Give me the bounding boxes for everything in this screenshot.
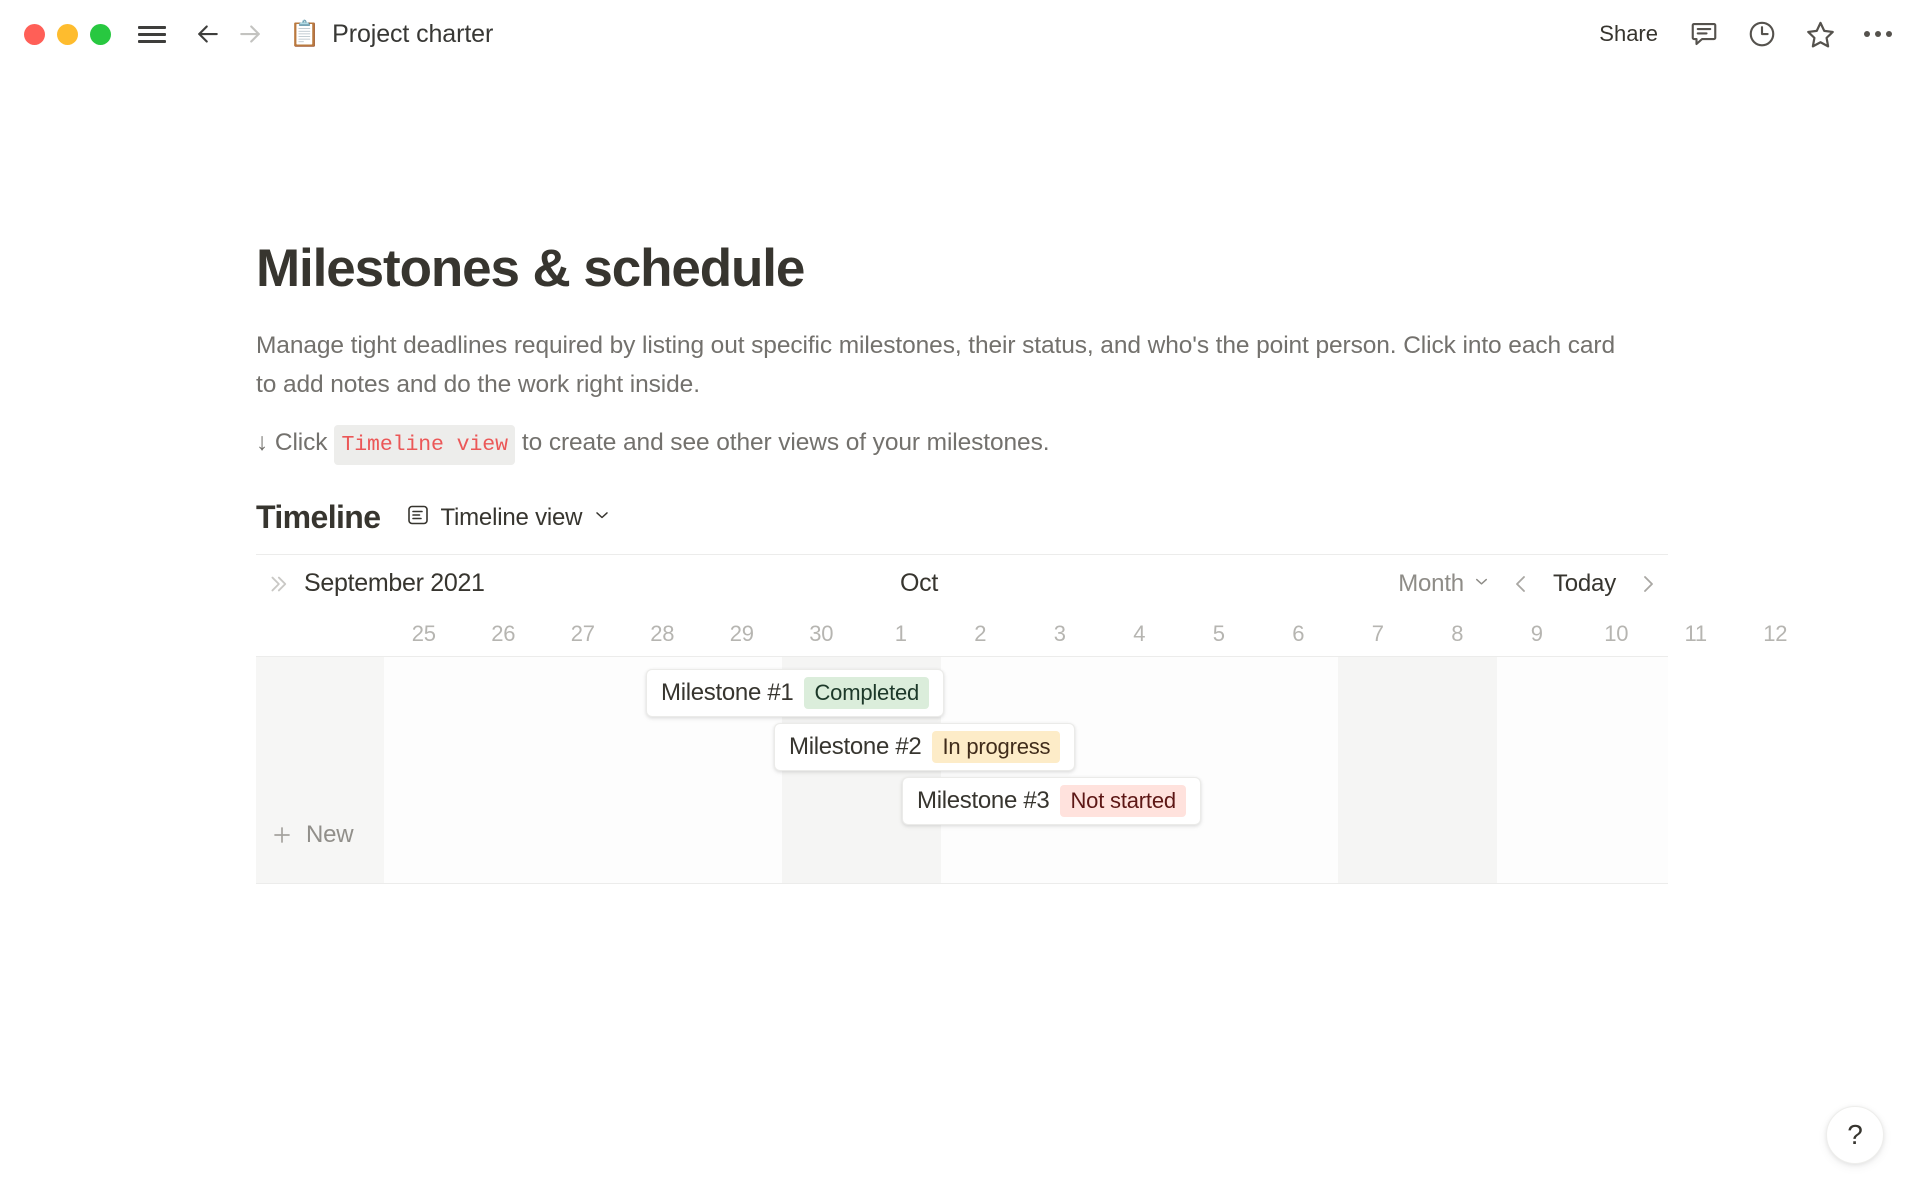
day-header-spacer — [256, 612, 384, 656]
day-header-cell: 27 — [543, 612, 623, 656]
day-header-cell: 30 — [782, 612, 862, 656]
day-header-cell: 10 — [1577, 612, 1657, 656]
history-clock-icon[interactable] — [1744, 16, 1780, 52]
milestone-title: Milestone #2 — [789, 733, 921, 761]
double-chevron-right-icon[interactable] — [266, 573, 288, 595]
app-window: 📋 Project charter Share — [0, 0, 1920, 1200]
status-badge: In progress — [932, 731, 1060, 763]
day-header-cell: 5 — [1179, 612, 1259, 656]
next-period-button[interactable] — [1636, 572, 1660, 596]
forward-arrow-icon[interactable] — [233, 17, 267, 51]
breadcrumb[interactable]: 📋 Project charter — [289, 20, 493, 49]
click-instruction-line: ↓ Click Timeline view to create and see … — [256, 423, 1668, 465]
hamburger-menu-icon[interactable] — [135, 17, 169, 51]
day-header-cell: 6 — [1259, 612, 1339, 656]
status-badge: Completed — [804, 677, 929, 709]
timeline-row-label-panel — [256, 657, 384, 883]
help-button[interactable]: ? — [1826, 1106, 1884, 1164]
milestone-card[interactable]: Milestone #2In progress — [774, 723, 1075, 771]
tab-timeline-view-label: Timeline view — [440, 504, 582, 532]
chevron-down-icon — [592, 505, 612, 530]
milestone-title: Milestone #1 — [661, 679, 793, 707]
timeline-view-icon — [406, 503, 430, 532]
timeline-block-title: Timeline — [256, 499, 380, 536]
close-window-button[interactable] — [24, 24, 45, 45]
timeline-scale-select[interactable]: Month — [1398, 570, 1491, 598]
milestone-title: Milestone #3 — [917, 787, 1049, 815]
day-header-cell: 9 — [1497, 612, 1577, 656]
timeline-database-block: Timeline Timeline view — [256, 499, 1668, 884]
chevron-down-icon — [1472, 570, 1491, 598]
tab-timeline-view[interactable]: Timeline view — [402, 501, 616, 534]
day-header-cell: 29 — [702, 612, 782, 656]
timeline-scale-label: Month — [1398, 570, 1464, 598]
star-icon[interactable] — [1802, 16, 1838, 52]
day-header-cell: 26 — [464, 612, 544, 656]
comment-icon[interactable] — [1686, 16, 1722, 52]
day-header-cell: 3 — [1020, 612, 1100, 656]
click-instruction-suffix: to create and see other views of your mi… — [522, 423, 1050, 462]
milestone-card[interactable]: Milestone #3Not started — [902, 777, 1201, 825]
share-button[interactable]: Share — [1593, 17, 1664, 51]
timeline-grid[interactable]: New Milestone #1CompletedMilestone #2In … — [256, 656, 1668, 884]
day-header-cell: 12 — [1736, 612, 1816, 656]
back-arrow-icon[interactable] — [191, 17, 225, 51]
day-header-cell: 11 — [1656, 612, 1736, 656]
plus-icon — [270, 823, 294, 847]
titlebar-actions: Share — [1593, 0, 1896, 68]
day-header-cells: 252627282930123456789101112 — [384, 612, 1815, 656]
window-titlebar: 📋 Project charter Share — [0, 0, 1920, 68]
add-new-row-label: New — [306, 821, 353, 849]
current-month-label: September 2021 — [304, 569, 485, 598]
weekend-band — [1338, 657, 1497, 883]
add-new-row-button[interactable]: New — [270, 821, 353, 849]
status-badge: Not started — [1060, 785, 1185, 817]
question-mark-icon: ? — [1847, 1119, 1863, 1151]
day-header-cell: 1 — [861, 612, 941, 656]
click-instruction-prefix: ↓ Click — [256, 423, 327, 462]
timeline-day-header-row: 252627282930123456789101112 — [256, 612, 1668, 656]
page-content: Milestones & schedule Manage tight deadl… — [256, 240, 1668, 884]
timeline-toolbar: September 2021 Oct Month — [256, 554, 1668, 612]
maximize-window-button[interactable] — [90, 24, 111, 45]
today-button[interactable]: Today — [1551, 570, 1618, 598]
page-title: Milestones & schedule — [256, 240, 1668, 298]
traffic-lights — [24, 24, 111, 45]
intro-paragraph: Manage tight deadlines required by listi… — [256, 326, 1616, 404]
minimize-window-button[interactable] — [57, 24, 78, 45]
timeline-toolbar-right: Month Today — [1398, 570, 1660, 598]
milestone-card[interactable]: Milestone #1Completed — [646, 669, 944, 717]
day-header-cell: 25 — [384, 612, 464, 656]
timeline-month-group: September 2021 — [266, 569, 485, 598]
breadcrumb-page-name[interactable]: Project charter — [332, 20, 493, 49]
timeline-view-code-chip[interactable]: Timeline view — [334, 425, 514, 465]
next-month-label: Oct — [900, 569, 938, 598]
more-options-icon[interactable] — [1860, 16, 1896, 52]
day-header-cell: 2 — [941, 612, 1021, 656]
previous-period-button[interactable] — [1509, 572, 1533, 596]
day-header-cell: 8 — [1418, 612, 1498, 656]
clipboard-icon: 📋 — [289, 22, 320, 47]
day-header-cell: 7 — [1338, 612, 1418, 656]
day-header-cell: 28 — [623, 612, 703, 656]
day-header-cell: 4 — [1100, 612, 1180, 656]
timeline-header-row: Timeline Timeline view — [256, 499, 1668, 536]
